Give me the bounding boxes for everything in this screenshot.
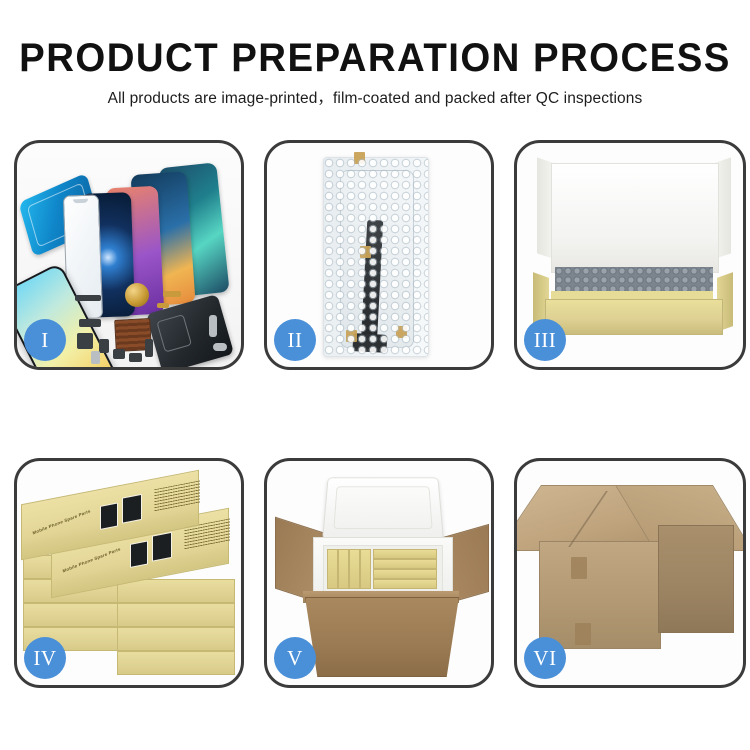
stacked-box-face: [117, 603, 235, 627]
inner-box-in-foam: [373, 579, 437, 589]
step-badge-1: I: [24, 319, 66, 361]
carton-handle-tab: [571, 557, 587, 579]
carton-handle-tab: [575, 623, 591, 645]
step-badge-6: VI: [524, 637, 566, 679]
carton-side-face: [658, 525, 734, 633]
speaker-module-graphic: [125, 283, 149, 307]
small-part-graphic: [209, 315, 217, 337]
small-part-graphic: [163, 291, 181, 297]
carton-front-panel: [305, 597, 459, 677]
small-part-graphic: [91, 351, 100, 364]
page-title: PRODUCT PREPARATION PROCESS: [15, 36, 735, 80]
box-artwork-square: [152, 532, 172, 562]
process-steps-grid: I II: [14, 140, 740, 688]
bubble-bag-graphic: [323, 157, 429, 357]
small-part-graphic: [113, 349, 125, 359]
step-badge-4: IV: [24, 637, 66, 679]
box-artwork-square: [130, 540, 148, 567]
foam-cooler-lid: [322, 477, 444, 539]
inner-box-in-foam: [360, 549, 371, 589]
inner-box-in-foam: [373, 549, 437, 559]
box-artwork-square: [122, 494, 142, 524]
stacked-box-face: [117, 627, 235, 651]
box-artwork-square: [100, 502, 118, 529]
inner-box-in-foam: [373, 559, 437, 569]
bubble-texture: [324, 158, 428, 356]
step-panel-1: I: [14, 140, 244, 370]
step-badge-3: III: [524, 319, 566, 361]
header: PRODUCT PREPARATION PROCESS All products…: [0, 0, 750, 109]
step-badge-2: II: [274, 319, 316, 361]
inner-box-in-foam: [327, 549, 338, 589]
step-panel-4: Mobile Phone Spare Parts Mobile Phone Sp…: [14, 458, 244, 688]
stacked-box-face: [117, 651, 235, 675]
step-panel-3: III: [514, 140, 746, 370]
step-badge-5: V: [274, 637, 316, 679]
box-lid-graphic: [551, 163, 719, 273]
stacked-box-face: [23, 603, 121, 627]
page-subtitle: All products are image-printed，film-coat…: [0, 89, 750, 109]
inner-box-in-foam: [349, 549, 360, 589]
step-panel-6: VI: [514, 458, 746, 688]
product-preparation-infographic: PRODUCT PREPARATION PROCESS All products…: [0, 0, 750, 750]
small-part-graphic: [129, 353, 142, 362]
small-part-graphic: [157, 303, 169, 308]
step-panel-5: V: [264, 458, 494, 688]
small-part-graphic: [79, 319, 101, 327]
carton-front-face: [539, 541, 661, 649]
step-panel-2: II: [264, 140, 494, 370]
box-artwork-lines: [154, 481, 200, 512]
stacked-box-face: [117, 579, 235, 603]
small-part-graphic: [213, 343, 227, 351]
small-part-graphic: [99, 339, 109, 353]
box-label-text: Mobile Phone Spare Parts: [32, 508, 91, 535]
inner-box-in-foam: [373, 569, 437, 579]
inner-box-in-foam: [338, 549, 349, 589]
small-part-graphic: [145, 339, 153, 357]
small-part-graphic: [77, 333, 93, 349]
small-part-graphic: [75, 295, 101, 301]
box-front-panel: [545, 299, 723, 335]
